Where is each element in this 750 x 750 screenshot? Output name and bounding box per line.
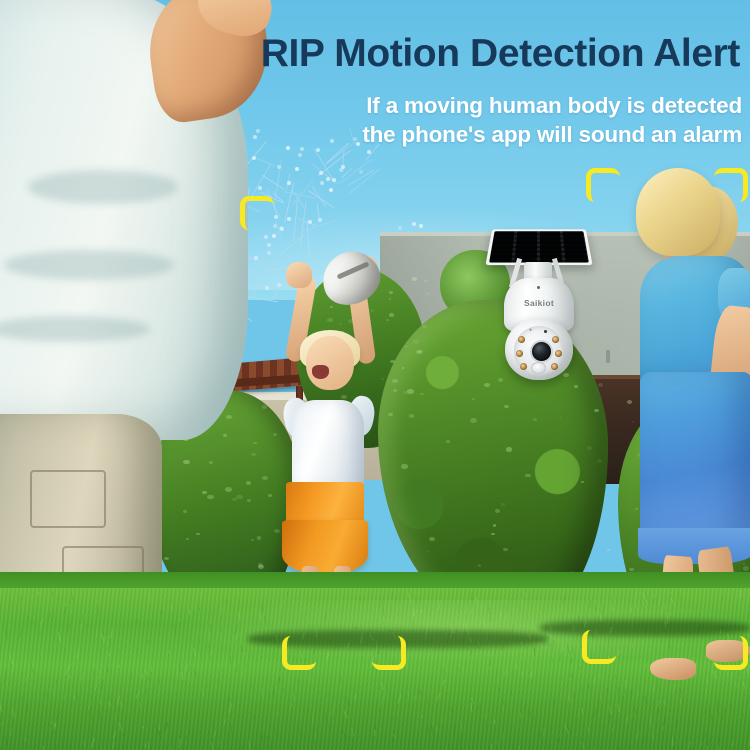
camera-brand-label: Saikiot [504, 298, 574, 308]
woman-skirt-hem [638, 528, 750, 564]
detection-corner-child-bottom-left [282, 636, 316, 670]
shirt-fold-1 [28, 170, 178, 204]
child-head [306, 336, 354, 390]
subtitle-line-2: the phone's app will sound an alarm [282, 121, 742, 150]
child-mouth [312, 365, 329, 379]
subtitle-block: If a moving human body is detected the p… [282, 92, 742, 150]
detection-corner-child-bottom-right [372, 636, 406, 670]
pir-motion-sensor [531, 362, 546, 374]
wall-vent-right [606, 350, 610, 363]
ir-led-5 [555, 350, 562, 357]
camera-mic-hole [544, 330, 547, 333]
shirt-fold-2 [4, 250, 174, 280]
subtitle-line-1: If a moving human body is detected [282, 92, 742, 121]
detection-corner-woman-bottom-right [714, 636, 748, 670]
child-skirt-lower [282, 520, 368, 574]
ir-led-4 [552, 336, 559, 343]
solar-cells [489, 231, 589, 262]
camera-indicator-mark: ✦ [528, 327, 533, 334]
woman-hair [636, 168, 720, 256]
child-hand-left [286, 262, 312, 288]
solar-panel [485, 229, 592, 265]
ir-led-1 [518, 336, 525, 343]
detection-corner-woman-bottom-left [582, 630, 616, 664]
page-title: RIP Motion Detection Alert [261, 34, 740, 73]
detection-corner-child-top-left [240, 196, 274, 230]
detection-corner-woman-top-right [714, 168, 748, 202]
product-marketing-banner: Saikiot ✦ [0, 0, 750, 750]
ir-led-3 [520, 363, 527, 370]
camera-lens [530, 340, 553, 363]
detection-corner-woman-top-left [586, 168, 620, 202]
woman-foot-front [650, 658, 696, 680]
ir-led-2 [516, 350, 523, 357]
cargo-pocket-left [30, 470, 106, 528]
ir-led-6 [551, 363, 558, 370]
camera-status-dot [537, 286, 540, 289]
